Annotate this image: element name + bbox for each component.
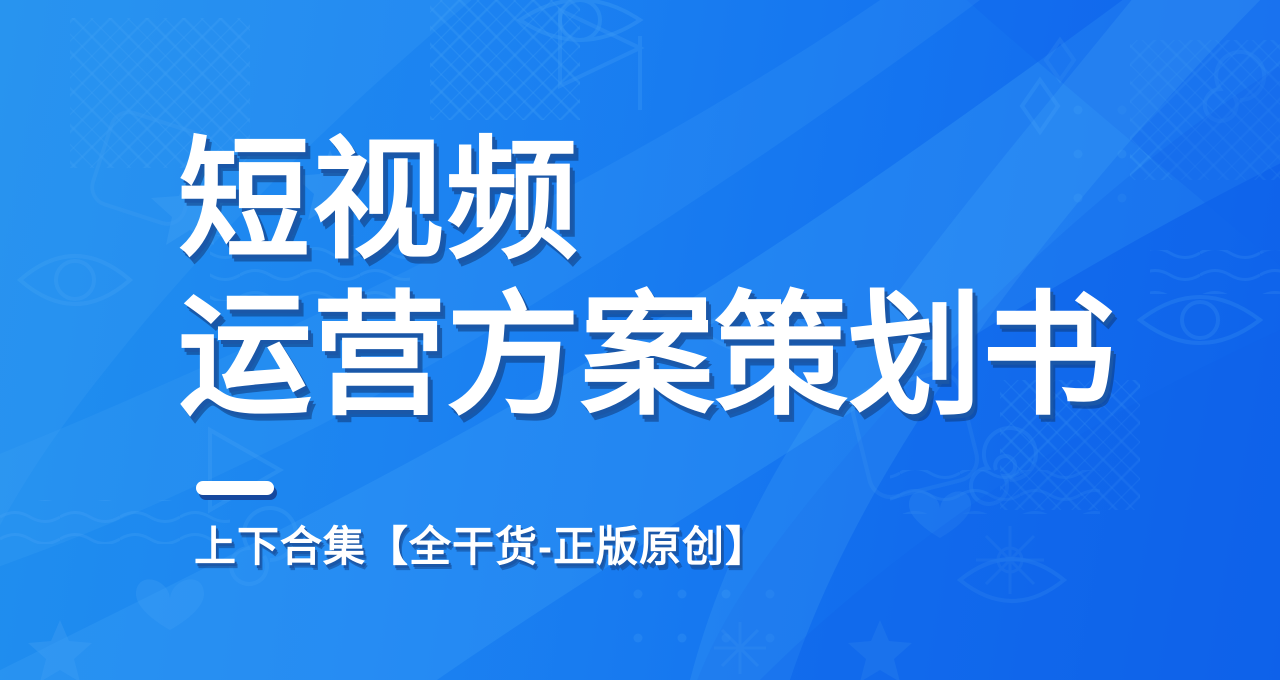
- title-line-2: 运营方案策划书: [178, 282, 1188, 432]
- poster-canvas: 短视频 运营方案策划书 上下合集【全干货-正版原创】: [0, 0, 1280, 680]
- divider: [196, 481, 274, 495]
- title-line-1: 短视频: [178, 126, 1188, 276]
- headline-block: 短视频 运营方案策划书: [178, 126, 1188, 432]
- divider-pill: [196, 481, 274, 495]
- subtitle: 上下合集【全干货-正版原创】: [194, 521, 768, 573]
